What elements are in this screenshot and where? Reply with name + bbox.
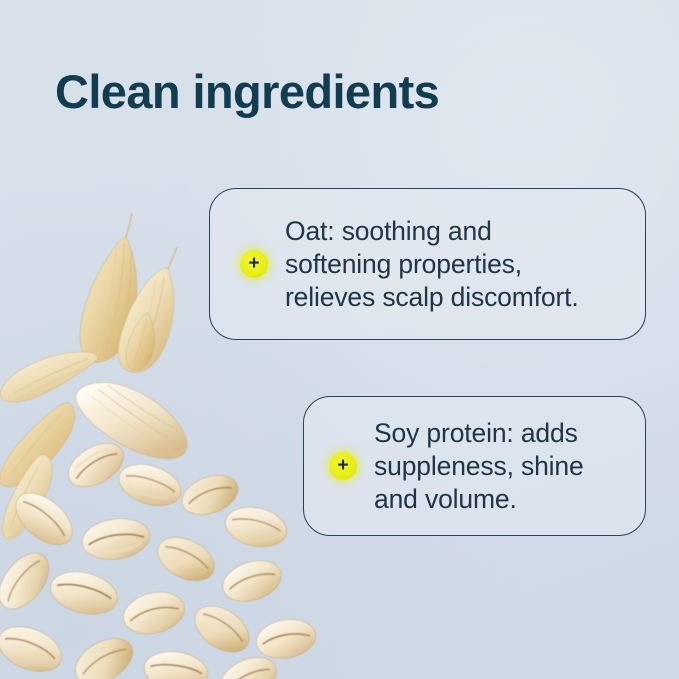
- ingredient-card-oat-text: Oat: soothing and softening properties, …: [285, 215, 579, 314]
- page-title: Clean ingredients: [55, 64, 439, 119]
- plus-icon[interactable]: +: [240, 250, 268, 278]
- ingredient-card-oat[interactable]: + Oat: soothing and softening properties…: [209, 188, 646, 340]
- plus-glyph: +: [248, 254, 259, 273]
- promo-graphic: Clean ingredients + Oat: soothing and so…: [0, 0, 679, 679]
- ingredient-card-soy[interactable]: + Soy protein: adds suppleness, shine an…: [303, 396, 646, 536]
- plus-icon[interactable]: +: [329, 452, 357, 480]
- plus-glyph: +: [337, 456, 348, 475]
- ingredient-card-soy-text: Soy protein: adds suppleness, shine and …: [374, 417, 584, 516]
